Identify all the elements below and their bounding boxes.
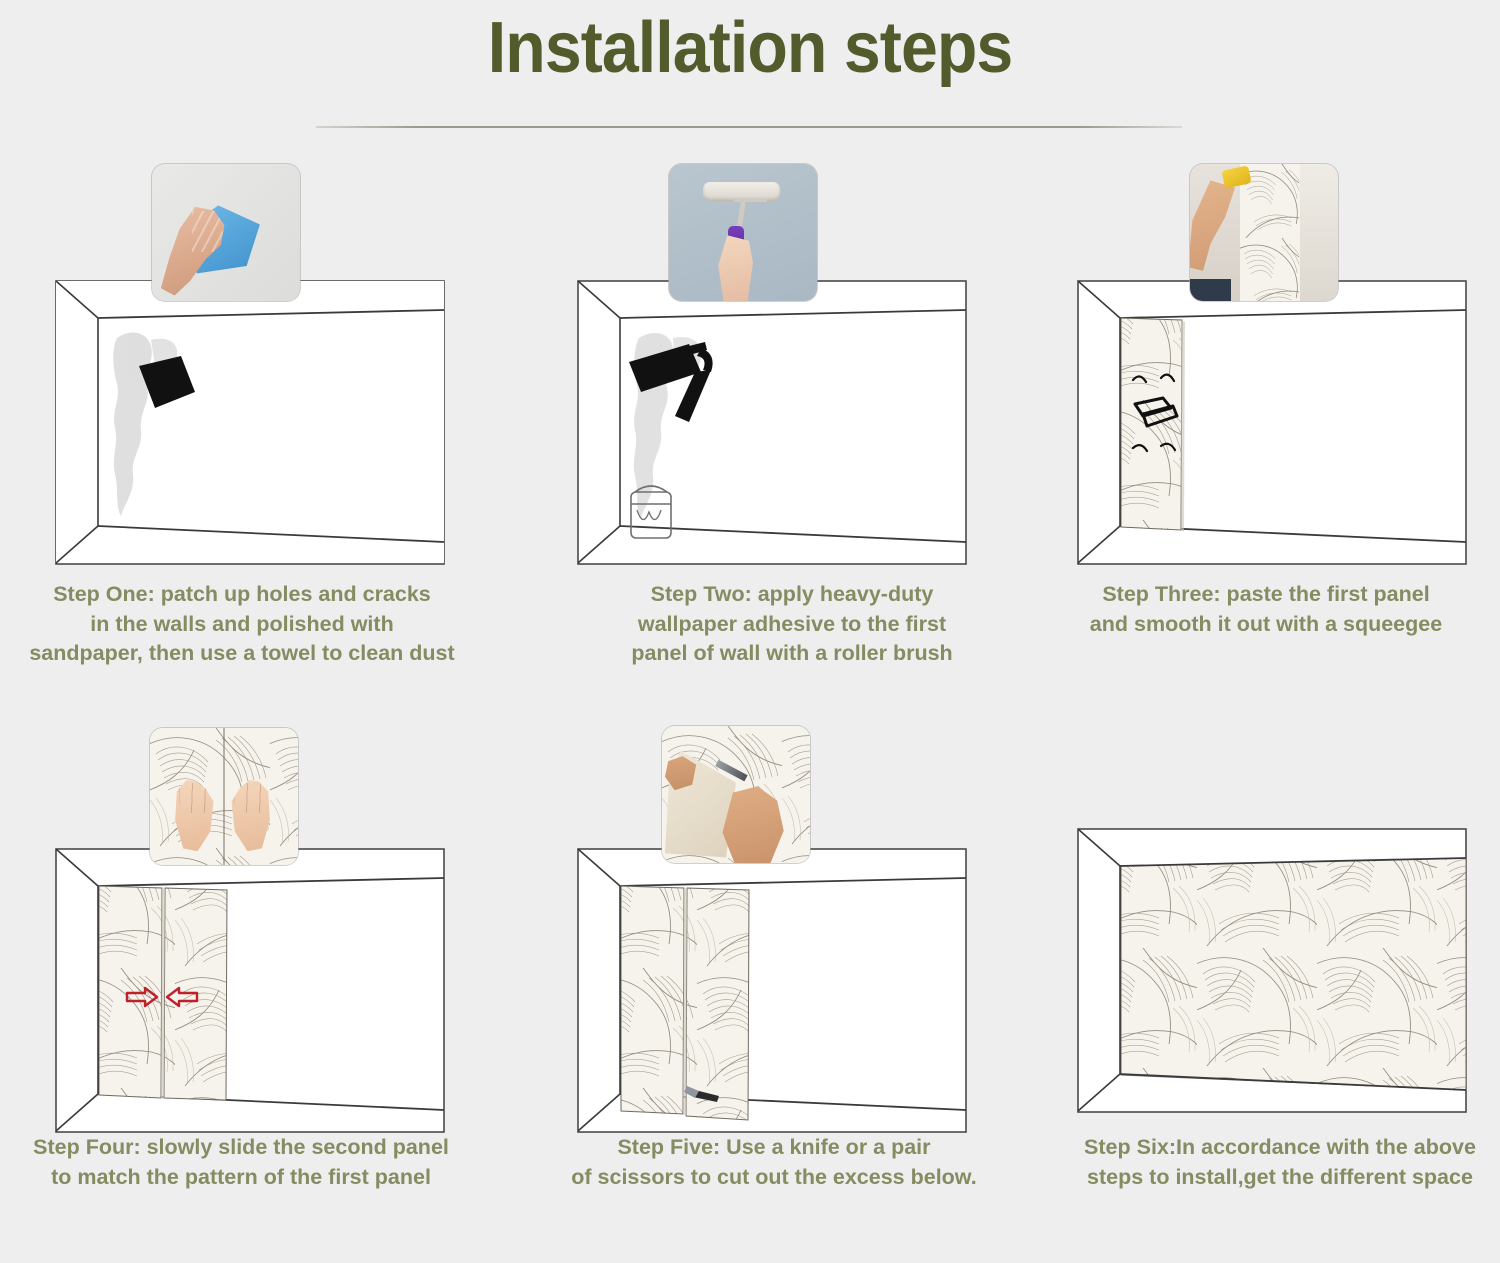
step-five-caption: Step Five: Use a knife or a pair of scis…	[524, 1133, 1024, 1192]
room-illustration-step-six	[1077, 828, 1467, 1113]
step-card-three: Step Three: paste the first panel and sm…	[1022, 150, 1500, 695]
step-card-two: Step Two: apply heavy-duty wallpaper adh…	[522, 150, 1022, 695]
steps-row-bottom: Step Four: slowly slide the second panel…	[0, 718, 1500, 1263]
step-one-caption: Step One: patch up holes and cracks in t…	[0, 580, 492, 669]
step-card-four: Step Four: slowly slide the second panel…	[0, 718, 500, 1263]
step-three-caption: Step Three: paste the first panel and sm…	[1006, 580, 1500, 639]
wallpaper-panel-1	[621, 886, 684, 1114]
wallpaper-panel-2	[683, 888, 749, 1120]
step-two-caption: Step Two: apply heavy-duty wallpaper adh…	[572, 580, 1012, 669]
page-header: Installation steps	[0, 0, 1500, 91]
room-illustration-step-four	[55, 848, 445, 1133]
paint-roller-on-wall-photo	[669, 164, 817, 301]
step-card-one: Step One: patch up holes and cracks in t…	[0, 150, 500, 695]
room-illustration-step-two	[577, 280, 967, 565]
hand-cutting-wallpaper-with-knife-photo	[662, 726, 810, 863]
two-hands-matching-wallpaper-pattern-photo	[150, 728, 298, 865]
room-illustration-step-three	[1077, 280, 1467, 565]
room-illustration-step-one	[55, 280, 445, 565]
page-title: Installation steps	[488, 6, 1013, 91]
step-card-six: Step Six:In accordance with the above st…	[1022, 718, 1500, 1263]
step-six-caption: Step Six:In accordance with the above st…	[1030, 1133, 1500, 1192]
arm-smoothing-wallpaper-with-yellow-squeegee-photo	[1190, 164, 1338, 301]
title-divider	[316, 126, 1182, 128]
steps-grid: Step One: patch up holes and cracks in t…	[0, 150, 1500, 1250]
step-card-five: Step Five: Use a knife or a pair of scis…	[522, 718, 1022, 1263]
room-illustration-step-five	[577, 848, 967, 1133]
hand-wiping-wall-with-blue-cloth-photo	[152, 164, 300, 301]
wallpaper-full-wall	[1121, 858, 1466, 1090]
step-four-caption: Step Four: slowly slide the second panel…	[0, 1133, 496, 1192]
steps-row-top: Step One: patch up holes and cracks in t…	[0, 150, 1500, 695]
